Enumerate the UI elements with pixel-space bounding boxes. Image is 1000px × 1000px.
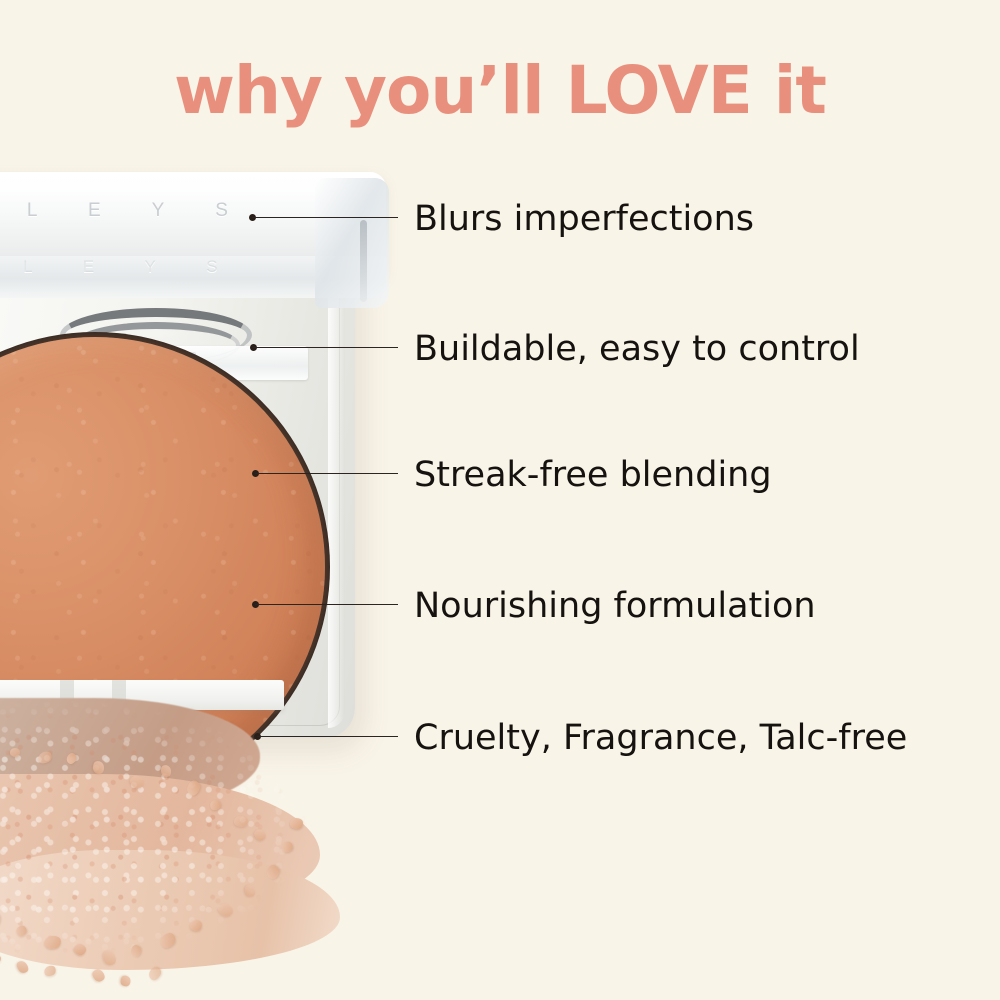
powder-swatch-image <box>0 690 390 990</box>
feature-label-1: Blurs imperfections <box>414 202 754 237</box>
feature-label-4: Nourishing formulation <box>414 589 816 624</box>
callout-leader-line-5 <box>257 736 398 737</box>
feature-label-5: Cruelty, Fragrance, Talc-free <box>414 721 907 756</box>
product-compact-image: H A L E Y S H A L E Y S <box>0 160 420 780</box>
infographic-canvas: why you’ll LOVE it H A L E Y S H A L E Y… <box>0 0 1000 1000</box>
callout-leader-line-3 <box>255 473 398 474</box>
lid-corner-rib <box>360 220 367 302</box>
callout-leader-line-4 <box>255 604 398 605</box>
brand-emboss-lid: H A L E Y S <box>0 200 230 222</box>
compact-base-highlight <box>328 272 345 728</box>
callout-leader-line-2 <box>253 347 398 348</box>
powder-crumb <box>290 818 303 829</box>
feature-label-2: Buildable, easy to control <box>414 332 860 367</box>
page-title: why you’ll LOVE it <box>0 58 1000 124</box>
lid-corner <box>315 178 389 308</box>
feature-label-3: Streak-free blending <box>414 458 772 493</box>
brand-emboss-reflection: H A L E Y S <box>0 257 230 277</box>
callout-leader-line-1 <box>252 217 398 218</box>
